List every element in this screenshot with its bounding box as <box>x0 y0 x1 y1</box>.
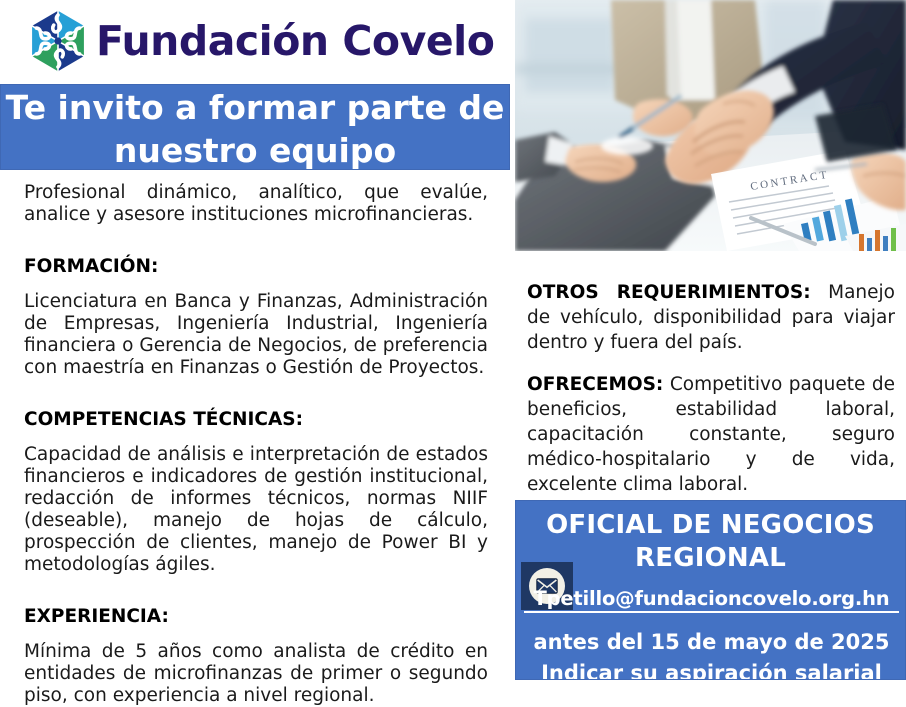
deadline-line-1: antes del 15 de mayo de 2025 <box>516 627 906 658</box>
deadline-block: antes del 15 de mayo de 2025 Indicar su … <box>516 627 906 680</box>
logo-header: Fundación Covelo <box>0 0 510 82</box>
job-title-line-1: OFICIAL DE NEGOCIOS <box>516 509 905 542</box>
offer-heading: OFRECEMOS: <box>527 374 663 395</box>
intro-paragraph: Profesional dinámico, analítico, que eva… <box>24 182 488 226</box>
section-heading-formacion: FORMACIÓN: <box>24 256 488 277</box>
requirements-heading: OTROS REQUERIMIENTOS: <box>527 282 811 303</box>
brand-name: Fundación Covelo <box>96 17 494 65</box>
headline-banner: Te invito a formar parte de nuestro equi… <box>0 84 510 170</box>
right-column: OTROS REQUERIMIENTOS: Manejo de vehículo… <box>527 280 895 497</box>
job-title-line-2: REGIONAL <box>516 542 905 575</box>
left-column: Profesional dinámico, analítico, que eva… <box>24 182 488 707</box>
section-heading-experiencia: EXPERIENCIA: <box>24 606 488 627</box>
offer-paragraph: OFRECEMOS: Competitivo paquete de benefi… <box>527 372 895 497</box>
section-body-experiencia: Mínima de 5 años como analista de crédit… <box>24 641 488 707</box>
section-body-formacion: Licenciatura en Banca y Finanzas, Admini… <box>24 291 488 379</box>
cta-box: OFICIAL DE NEGOCIOS REGIONAL Tpetillo@fu… <box>515 500 906 680</box>
section-body-competencias: Capacidad de análisis e interpretación d… <box>24 444 488 576</box>
job-title: OFICIAL DE NEGOCIOS REGIONAL <box>516 501 905 575</box>
contact-email[interactable]: Tpetillo@fundacioncovelo.org.hn <box>516 587 906 610</box>
headline-line-2: nuestro equipo <box>1 129 509 172</box>
headline-line-1: Te invito a formar parte de <box>1 86 509 129</box>
contact-email-underline <box>524 611 899 613</box>
section-heading-competencias: COMPETENCIAS TÉCNICAS: <box>24 409 488 430</box>
hexagon-snowflake-logo-icon <box>22 5 94 77</box>
requirements-paragraph: OTROS REQUERIMIENTOS: Manejo de vehículo… <box>527 280 895 355</box>
business-handshake-photo: CONTRACT <box>515 0 906 251</box>
deadline-line-2: Indicar su aspiración salarial <box>516 658 906 680</box>
